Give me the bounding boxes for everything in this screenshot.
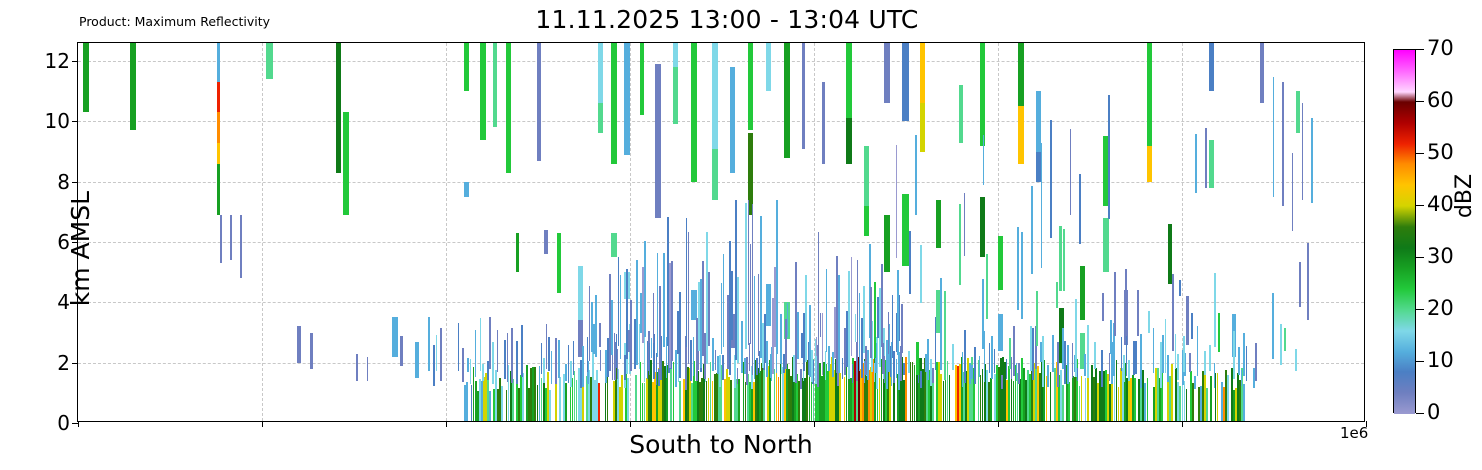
colorbar-tick-label: 40 bbox=[1427, 194, 1454, 215]
reflectivity-bar bbox=[537, 43, 541, 161]
reflectivity-bar bbox=[356, 354, 358, 381]
reflectivity-bar bbox=[936, 200, 941, 248]
reflectivity-bar bbox=[1126, 333, 1128, 375]
reflectivity-bar bbox=[964, 330, 966, 383]
reflectivity-bar bbox=[1036, 291, 1038, 346]
reflectivity-bar bbox=[693, 337, 695, 376]
reflectivity-bar bbox=[501, 386, 503, 421]
colorbar-title: dBZ bbox=[1452, 174, 1477, 218]
reflectivity-bar bbox=[746, 357, 748, 385]
reflectivity-bar bbox=[541, 343, 543, 374]
reflectivity-bar bbox=[691, 290, 697, 320]
y-tick-label: 12 bbox=[26, 51, 70, 71]
reflectivity-bar bbox=[784, 43, 790, 158]
reflectivity-bar bbox=[722, 355, 724, 380]
reflectivity-bar bbox=[436, 335, 438, 371]
reflectivity-bar bbox=[598, 383, 600, 421]
reflectivity-bar bbox=[1057, 342, 1059, 386]
reflectivity-bar bbox=[620, 275, 622, 359]
reflectivity-bar bbox=[754, 276, 756, 348]
reflectivity-bar bbox=[573, 341, 575, 375]
reflectivity-bar bbox=[367, 357, 369, 381]
reflectivity-bar bbox=[846, 43, 852, 118]
x-tick-mark bbox=[446, 421, 447, 427]
colorbar-segment bbox=[1394, 102, 1415, 123]
reflectivity-bar bbox=[497, 330, 499, 372]
reflectivity-bar bbox=[874, 282, 876, 358]
reflectivity-bar bbox=[466, 382, 468, 421]
reflectivity-bar bbox=[851, 257, 853, 356]
reflectivity-bar bbox=[659, 286, 661, 380]
reflectivity-bar bbox=[982, 279, 984, 350]
reflectivity-bar bbox=[679, 292, 681, 378]
colorbar-segment bbox=[1394, 71, 1415, 92]
reflectivity-bar bbox=[1148, 311, 1150, 333]
reflectivity-bar bbox=[734, 355, 736, 388]
reflectivity-bar bbox=[489, 317, 491, 370]
reflectivity-bar bbox=[598, 103, 603, 133]
reflectivity-bar bbox=[1162, 335, 1164, 373]
reflectivity-bar bbox=[507, 333, 509, 382]
reflectivity-bar bbox=[1087, 377, 1089, 421]
reflectivity-bar bbox=[400, 336, 403, 366]
reflectivity-bar bbox=[766, 43, 771, 91]
reflectivity-bar bbox=[1272, 293, 1274, 359]
reflectivity-bar bbox=[842, 358, 844, 378]
reflectivity-bar bbox=[884, 43, 889, 103]
reflectivity-bar bbox=[266, 43, 273, 79]
reflectivity-bar bbox=[1135, 341, 1137, 374]
reflectivity-bar bbox=[611, 43, 617, 164]
colorbar-tick-label: 30 bbox=[1427, 246, 1454, 267]
x-tick-mark bbox=[998, 421, 999, 427]
reflectivity-bar bbox=[343, 112, 349, 215]
reflectivity-bar bbox=[748, 43, 754, 130]
reflectivity-bar bbox=[506, 43, 511, 173]
reflectivity-bar bbox=[1134, 378, 1136, 421]
reflectivity-bar bbox=[896, 145, 898, 258]
y-tick-label: 8 bbox=[26, 172, 70, 192]
reflectivity-bar bbox=[599, 323, 601, 347]
reflectivity-bar bbox=[1059, 226, 1061, 290]
reflectivity-bar bbox=[1307, 243, 1309, 320]
reflectivity-bar bbox=[935, 317, 937, 370]
reflectivity-bar bbox=[901, 304, 903, 353]
reflectivity-bar bbox=[688, 232, 690, 364]
colorbar-tick-mark bbox=[1416, 361, 1424, 362]
reflectivity-bar bbox=[548, 337, 550, 371]
colorbar-tick-label: 0 bbox=[1427, 402, 1440, 423]
reflectivity-bar bbox=[1042, 336, 1044, 388]
reflectivity-bar bbox=[1052, 335, 1054, 373]
reflectivity-bar bbox=[881, 264, 883, 347]
reflectivity-bar bbox=[482, 364, 484, 381]
colorbar-tick-label: 50 bbox=[1427, 142, 1454, 163]
reflectivity-bar bbox=[546, 324, 548, 369]
x-tick-mark bbox=[262, 421, 263, 427]
reflectivity-bar bbox=[892, 295, 894, 358]
reflectivity-bar bbox=[986, 254, 988, 319]
reflectivity-bar bbox=[1195, 134, 1197, 193]
reflectivity-bar bbox=[952, 344, 954, 370]
reflectivity-bar bbox=[1006, 359, 1008, 380]
reflectivity-bar bbox=[578, 266, 583, 320]
colorbar-tick-label: 70 bbox=[1427, 38, 1454, 59]
reflectivity-bar bbox=[220, 215, 222, 263]
reflectivity-bar bbox=[1017, 227, 1019, 310]
reflectivity-bar bbox=[570, 361, 572, 388]
reflectivity-bar bbox=[1081, 376, 1083, 421]
reflectivity-bar bbox=[920, 245, 922, 304]
reflectivity-bar bbox=[1021, 232, 1023, 319]
plot-area: km AMSL 024681012 bbox=[77, 42, 1365, 422]
reflectivity-bar bbox=[920, 371, 922, 389]
reflectivity-bar bbox=[1209, 345, 1211, 371]
reflectivity-bar bbox=[428, 317, 430, 371]
reflectivity-bar bbox=[944, 291, 946, 379]
reflectivity-bar bbox=[1031, 186, 1033, 274]
reflectivity-bar bbox=[1296, 91, 1299, 133]
colorbar-tick-mark bbox=[1416, 101, 1424, 102]
reflectivity-bar bbox=[1087, 325, 1089, 378]
reflectivity-bar bbox=[1171, 364, 1173, 421]
colorbar-tick-mark bbox=[1416, 257, 1424, 258]
reflectivity-bar bbox=[1218, 313, 1220, 352]
reflectivity-bar bbox=[635, 375, 637, 421]
reflectivity-bar bbox=[915, 135, 917, 214]
reflectivity-bar bbox=[1284, 328, 1286, 351]
reflectivity-bar bbox=[744, 358, 746, 374]
reflectivity-bar bbox=[979, 356, 981, 377]
reflectivity-bar bbox=[624, 43, 630, 155]
colorbar-tick-label: 60 bbox=[1427, 90, 1454, 111]
reflectivity-bar bbox=[621, 375, 623, 421]
reflectivity-bar bbox=[902, 43, 908, 121]
reflectivity-bar bbox=[1165, 319, 1167, 373]
reflectivity-bar bbox=[723, 254, 725, 347]
reflectivity-bar bbox=[708, 272, 710, 346]
reflectivity-bar bbox=[776, 200, 778, 355]
reflectivity-bar bbox=[1001, 375, 1003, 389]
colorbar-segment bbox=[1394, 372, 1415, 393]
reflectivity-bar bbox=[559, 377, 561, 421]
reflectivity-bar bbox=[712, 43, 718, 149]
reflectivity-bar bbox=[627, 378, 629, 421]
reflectivity-bar bbox=[1147, 43, 1152, 146]
reflectivity-bar bbox=[1238, 347, 1240, 375]
reflectivity-bar bbox=[565, 364, 567, 381]
reflectivity-bar bbox=[1009, 338, 1011, 369]
reflectivity-bar bbox=[920, 103, 925, 151]
reflectivity-bar bbox=[903, 363, 905, 375]
reflectivity-bar bbox=[1179, 280, 1181, 296]
reflectivity-bar bbox=[1079, 174, 1081, 244]
reflectivity-bar bbox=[544, 230, 547, 254]
reflectivity-bar bbox=[1206, 388, 1208, 421]
reflectivity-bar bbox=[512, 379, 514, 422]
reflectivity-bar bbox=[730, 67, 735, 173]
colorbar-segment bbox=[1394, 310, 1415, 331]
y-gridline bbox=[78, 121, 1364, 122]
reflectivity-bar bbox=[802, 43, 805, 149]
reflectivity-bar bbox=[1094, 342, 1096, 369]
reflectivity-bar bbox=[582, 346, 584, 387]
reflectivity-bar bbox=[440, 328, 442, 381]
reflectivity-bar bbox=[516, 341, 518, 384]
reflectivity-bar bbox=[990, 378, 992, 421]
reflectivity-bar bbox=[864, 146, 870, 206]
reflectivity-bar bbox=[568, 345, 570, 383]
reflectivity-bar bbox=[607, 338, 609, 377]
reflectivity-bar bbox=[1109, 353, 1111, 382]
colorbar-segment bbox=[1394, 227, 1415, 248]
reflectivity-bar bbox=[1062, 328, 1064, 369]
reflectivity-bar bbox=[464, 43, 469, 91]
reflectivity-bar bbox=[1077, 368, 1079, 381]
reflectivity-bar bbox=[1108, 95, 1110, 220]
reflectivity-bar bbox=[766, 341, 768, 377]
reflectivity-bar bbox=[1299, 262, 1301, 307]
reflectivity-bar bbox=[1175, 334, 1177, 369]
reflectivity-bar bbox=[980, 197, 986, 257]
reflectivity-bar bbox=[1209, 140, 1214, 188]
reflectivity-bar bbox=[492, 342, 494, 385]
colorbar-gradient bbox=[1393, 49, 1416, 413]
reflectivity-bar bbox=[558, 340, 560, 378]
reflectivity-bar bbox=[1194, 376, 1196, 390]
reflectivity-bar bbox=[893, 351, 895, 383]
reflectivity-bar bbox=[930, 359, 932, 386]
y-tick-mark bbox=[72, 363, 78, 364]
colorbar-tick-mark bbox=[1416, 153, 1424, 154]
reflectivity-bar bbox=[1103, 218, 1109, 272]
reflectivity-bar bbox=[480, 43, 486, 140]
colorbar-segment bbox=[1394, 144, 1415, 165]
reflectivity-bar bbox=[959, 85, 963, 142]
reflectivity-bar bbox=[719, 355, 721, 387]
reflectivity-bar bbox=[1047, 365, 1049, 386]
reflectivity-bar bbox=[884, 356, 886, 383]
reflectivity-bar bbox=[839, 373, 841, 421]
reflectivity-bar bbox=[927, 339, 929, 380]
reflectivity-bar bbox=[730, 380, 732, 421]
reflectivity-bar bbox=[640, 43, 645, 115]
reflectivity-bar bbox=[818, 232, 820, 358]
reflectivity-bar bbox=[994, 349, 996, 373]
reflectivity-bar bbox=[980, 43, 986, 146]
reflectivity-bar bbox=[1016, 363, 1018, 381]
x-tick-mark bbox=[1182, 421, 1183, 427]
reflectivity-bar bbox=[1255, 343, 1257, 381]
reflectivity-bar bbox=[656, 353, 658, 384]
y-tick-mark bbox=[72, 182, 78, 183]
reflectivity-bar bbox=[1191, 313, 1193, 339]
reflectivity-bar bbox=[1018, 106, 1024, 163]
reflectivity-bar bbox=[864, 206, 870, 236]
reflectivity-bar bbox=[949, 375, 951, 421]
reflectivity-bar bbox=[1056, 282, 1058, 309]
y-tick-mark bbox=[72, 121, 78, 122]
reflectivity-bar bbox=[738, 379, 740, 421]
reflectivity-bar bbox=[983, 135, 985, 185]
colorbar-segment bbox=[1394, 185, 1415, 206]
reflectivity-bar bbox=[1050, 372, 1052, 421]
page-title: 11.11.2025 13:00 - 13:04 UTC bbox=[497, 6, 957, 34]
y-tick-mark bbox=[72, 242, 78, 243]
reflectivity-bar bbox=[1295, 349, 1297, 371]
reflectivity-bar bbox=[826, 269, 828, 351]
colorbar-tick-mark bbox=[1416, 205, 1424, 206]
reflectivity-bar bbox=[1153, 328, 1155, 373]
reflectivity-bar bbox=[783, 354, 785, 373]
reflectivity-bar bbox=[480, 318, 482, 371]
colorbar-segment bbox=[1394, 352, 1415, 373]
colorbar: 010203040506070 bbox=[1393, 49, 1416, 413]
reflectivity-bar bbox=[717, 356, 719, 374]
reflectivity-bar bbox=[800, 369, 802, 389]
reflectivity-bar bbox=[675, 350, 677, 388]
reflectivity-bar bbox=[1128, 360, 1130, 381]
reflectivity-bar bbox=[867, 350, 869, 380]
reflectivity-bar bbox=[1137, 290, 1139, 336]
y-gridline bbox=[78, 182, 1364, 183]
reflectivity-bar bbox=[1102, 293, 1104, 321]
reflectivity-bar bbox=[598, 43, 603, 103]
reflectivity-bar bbox=[217, 43, 220, 82]
reflectivity-bar bbox=[825, 351, 827, 381]
reflectivity-bar bbox=[828, 346, 830, 372]
colorbar-segment bbox=[1394, 248, 1415, 269]
reflectivity-bar bbox=[1068, 382, 1070, 421]
reflectivity-bar bbox=[551, 351, 553, 384]
reflectivity-bar bbox=[1147, 378, 1149, 421]
reflectivity-bar bbox=[1280, 324, 1282, 364]
reflectivity-bar bbox=[763, 363, 765, 421]
reflectivity-bar bbox=[971, 365, 973, 378]
reflectivity-bar bbox=[1292, 153, 1294, 231]
reflectivity-bar bbox=[1210, 376, 1212, 421]
reflectivity-bar bbox=[639, 324, 641, 370]
reflectivity-bar bbox=[504, 340, 506, 379]
colorbar-tick-mark bbox=[1416, 413, 1424, 414]
reflectivity-bar bbox=[1260, 43, 1264, 103]
reflectivity-bar bbox=[793, 355, 795, 383]
reflectivity-bar bbox=[297, 326, 301, 362]
reflectivity-bar bbox=[493, 43, 497, 127]
reflectivity-bar bbox=[805, 275, 807, 362]
x-gridline bbox=[262, 43, 263, 421]
colorbar-segment bbox=[1394, 331, 1415, 352]
reflectivity-bar bbox=[1311, 118, 1313, 203]
product-label: Product: Maximum Reflectivity bbox=[79, 15, 270, 29]
reflectivity-bar bbox=[655, 64, 661, 218]
reflectivity-bar bbox=[1101, 350, 1103, 388]
reflectivity-bar bbox=[433, 345, 435, 386]
reflectivity-bar bbox=[470, 359, 472, 384]
reflectivity-bar bbox=[217, 143, 220, 164]
reflectivity-bar bbox=[565, 383, 567, 421]
reflectivity-bar bbox=[1273, 77, 1275, 198]
reflectivity-bar bbox=[756, 358, 758, 375]
reflectivity-bar bbox=[600, 350, 602, 372]
reflectivity-bar bbox=[909, 231, 911, 293]
reflectivity-bar bbox=[644, 241, 646, 336]
reflectivity-bar bbox=[1125, 269, 1127, 336]
reflectivity-bar bbox=[1197, 326, 1199, 376]
reflectivity-bar bbox=[897, 270, 899, 355]
reflectivity-bar bbox=[787, 303, 789, 337]
reflectivity-bar bbox=[989, 343, 991, 373]
reflectivity-bar bbox=[1243, 384, 1245, 421]
reflectivity-bar bbox=[1177, 354, 1179, 380]
reflectivity-bar bbox=[811, 350, 813, 382]
reflectivity-bar bbox=[764, 314, 766, 362]
reflectivity-bar bbox=[1032, 328, 1034, 380]
reflectivity-bar bbox=[521, 325, 523, 376]
y-tick-label: 10 bbox=[26, 111, 70, 131]
colorbar-segment bbox=[1394, 289, 1415, 310]
x-gridline bbox=[998, 43, 999, 421]
reflectivity-bar bbox=[673, 362, 675, 421]
reflectivity-bar bbox=[1075, 299, 1077, 376]
colorbar-segment bbox=[1394, 206, 1415, 227]
reflectivity-bar bbox=[925, 354, 927, 373]
reflectivity-bar bbox=[1160, 342, 1162, 388]
y-tick-label: 6 bbox=[26, 232, 70, 252]
reflectivity-bar bbox=[663, 253, 665, 347]
reflectivity-bar bbox=[712, 338, 714, 371]
reflectivity-bar bbox=[731, 271, 733, 341]
reflectivity-bar bbox=[1114, 272, 1116, 337]
reflectivity-bar bbox=[1110, 320, 1112, 354]
reflectivity-bar bbox=[1233, 331, 1235, 379]
reflectivity-bar bbox=[240, 215, 242, 278]
reflectivity-bar bbox=[1214, 363, 1216, 388]
x-axis-label: South to North bbox=[77, 430, 1365, 459]
colorbar-tick-mark bbox=[1416, 49, 1424, 50]
reflectivity-bar bbox=[870, 287, 872, 358]
reflectivity-bar bbox=[1080, 266, 1085, 320]
plot-canvas bbox=[78, 43, 1364, 421]
reflectivity-bar bbox=[1067, 345, 1069, 385]
reflectivity-bar bbox=[555, 382, 557, 421]
colorbar-segment bbox=[1394, 92, 1415, 102]
reflectivity-bar bbox=[636, 260, 638, 365]
reflectivity-bar bbox=[964, 193, 966, 256]
y-tick-mark bbox=[72, 302, 78, 303]
reflectivity-bar bbox=[549, 390, 551, 421]
reflectivity-bar bbox=[822, 313, 824, 375]
reflectivity-bar bbox=[489, 391, 491, 421]
reflectivity-bar bbox=[916, 342, 918, 375]
reflectivity-bar bbox=[1062, 385, 1064, 421]
y-tick-label: 4 bbox=[26, 292, 70, 312]
reflectivity-bar bbox=[1063, 229, 1065, 290]
reflectivity-bar bbox=[932, 368, 934, 383]
y-tick-mark bbox=[72, 61, 78, 62]
reflectivity-bar bbox=[690, 340, 692, 381]
reflectivity-bar bbox=[1205, 128, 1207, 188]
reflectivity-bar bbox=[1227, 375, 1229, 421]
reflectivity-bar bbox=[838, 275, 840, 373]
reflectivity-bar bbox=[882, 343, 884, 375]
reflectivity-bar bbox=[1013, 326, 1015, 376]
reflectivity-bar bbox=[974, 347, 976, 384]
colorbar-segment bbox=[1394, 393, 1415, 414]
y-tick-label: 0 bbox=[26, 413, 70, 433]
reflectivity-bar bbox=[1172, 274, 1174, 352]
reflectivity-bar bbox=[415, 342, 419, 378]
